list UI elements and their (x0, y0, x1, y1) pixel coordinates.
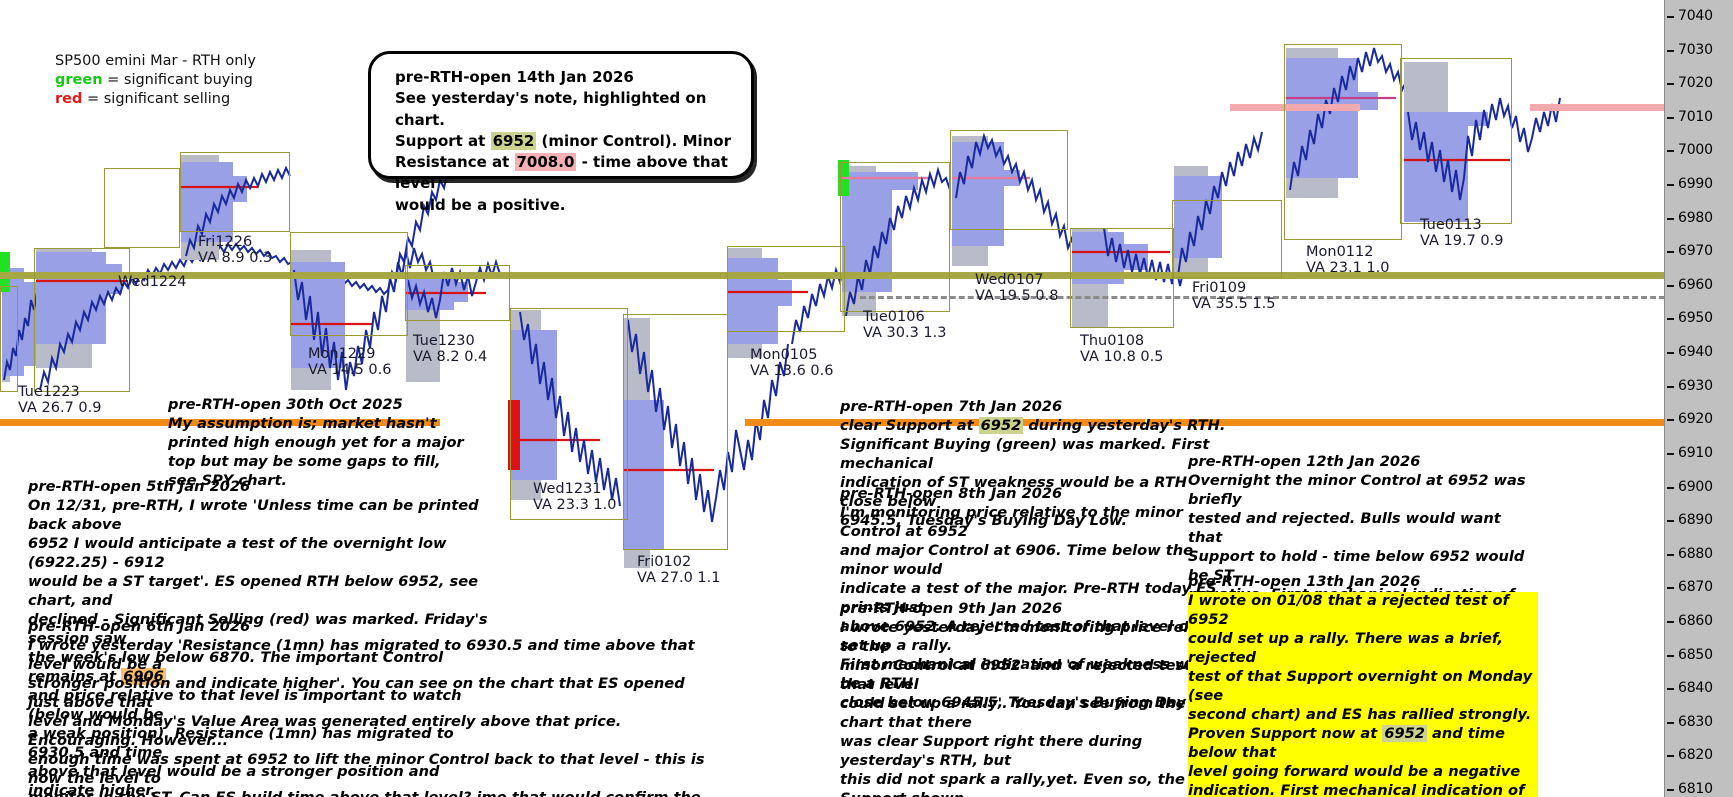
legend-red-word: red (55, 91, 82, 107)
tick-label: 7040 (1678, 8, 1713, 24)
price-axis-tick: 6900 (1665, 488, 1733, 489)
price-axis-tick: 6910 (1665, 454, 1733, 455)
legend-red-row: red = significant selling (55, 90, 256, 109)
note-line-6: level going forward would be a negative (1188, 763, 1538, 782)
tick-label: 6870 (1678, 579, 1713, 595)
session-name: Tue0113 (1420, 217, 1482, 233)
note-line-5-a: Proven Support now at (1188, 725, 1382, 742)
price-axis-tick: 6990 (1665, 185, 1733, 186)
note-header: pre-RTH-open 30th Oct 2025 (168, 396, 468, 415)
price-axis-tick: 6940 (1665, 353, 1733, 354)
session-name: Tue0106 (863, 309, 925, 325)
note-jan09: pre-RTH-open 9th Jan 2026 I wrote yester… (840, 600, 1230, 797)
callout-line-2: See yesterday's note, highlighted on cha… (395, 88, 751, 131)
tick-mark (1667, 621, 1674, 623)
note-line-2: stronger position and indicate higher'. … (28, 675, 718, 713)
tick-label: 7020 (1678, 75, 1713, 91)
price-axis-tick: 6840 (1665, 689, 1733, 690)
note-line-2: minor Control at 6952' and 'a rejected t… (840, 657, 1230, 695)
note-line-1: I'm monitoring price relative to the min… (840, 504, 1230, 542)
price-axis-tick: 6810 (1665, 790, 1733, 791)
price-axis-tick: 7010 (1665, 118, 1733, 119)
session-va: VA 8.2 0.4 (413, 349, 487, 365)
tick-label: 6860 (1678, 613, 1713, 629)
note-line-4: enough time was spent at 6952 to lift th… (28, 751, 718, 789)
session-va: VA 30.3 1.3 (863, 325, 946, 341)
tick-mark (1667, 184, 1674, 186)
session-label-fri1226: Fri1226 VA 8.9 0.3 (198, 234, 272, 266)
chart-screen: Tue1223 VA 26.7 0.9 Wed1224 Fri1226 VA 8… (0, 0, 1733, 797)
price-axis-tick: 6920 (1665, 420, 1733, 421)
session-box-wed1224[interactable] (34, 248, 130, 392)
session-box-mon0105[interactable] (727, 246, 845, 332)
note-line-1: clear Support at 6952 during yesterday's… (840, 417, 1230, 436)
session-va: VA 19.7 0.9 (1420, 233, 1503, 249)
note-line-1-a: clear Support at (840, 417, 979, 434)
session-name: Mon0105 (750, 347, 817, 363)
tick-mark (1667, 285, 1674, 287)
session-va: VA 10.8 0.5 (1080, 349, 1163, 365)
tick-mark (1667, 218, 1674, 220)
note-line-1: I wrote yesterday 'Resistance (1mn) has … (28, 637, 718, 675)
price-axis-tick: 7030 (1665, 51, 1733, 52)
tick-mark (1667, 117, 1674, 119)
tick-mark (1667, 83, 1674, 85)
price-axis[interactable]: 7040703070207010700069906980697069606950… (1664, 0, 1733, 797)
session-name: Tue1223 (18, 384, 80, 400)
session-box-thu0108[interactable] (1070, 228, 1174, 328)
note-line-4: second chart) and ES has rallied strongl… (1188, 706, 1538, 725)
session-va: VA 14.5 0.6 (308, 362, 391, 378)
tick-mark (1667, 50, 1674, 52)
note-line-4: was clear Support right there during yes… (840, 733, 1230, 771)
note-header: pre-RTH-open 9th Jan 2026 (840, 600, 1230, 619)
tick-mark (1667, 251, 1674, 253)
session-box-fri0102[interactable] (623, 314, 728, 550)
session-name: Fri1226 (198, 234, 252, 250)
tick-label: 6910 (1678, 445, 1713, 461)
note-line-1: I wrote on 01/08 that a rejected test of… (1188, 592, 1538, 630)
tick-label: 6970 (1678, 243, 1713, 259)
tick-label: 6960 (1678, 277, 1713, 293)
tick-label: 6940 (1678, 344, 1713, 360)
session-box-fri0109[interactable] (1172, 200, 1282, 278)
note-header: pre-RTH-open 7th Jan 2026 (840, 398, 1230, 417)
session-name: Tue1230 (413, 333, 475, 349)
session-va: VA 35.5 1.5 (1192, 296, 1275, 312)
tick-label: 6980 (1678, 210, 1713, 226)
session-va: VA 26.7 0.9 (18, 400, 101, 416)
callout-text: pre-RTH-open 14th Jan 2026 See yesterday… (371, 54, 751, 216)
session-name: Fri0109 (1192, 280, 1246, 296)
note-header: pre-RTH-open 13th Jan 2026 (1188, 573, 1538, 592)
tick-label: 6810 (1678, 781, 1713, 797)
session-label-tue0106: Tue0106 VA 30.3 1.3 (863, 309, 946, 341)
price-axis-tick: 6880 (1665, 555, 1733, 556)
session-name: Wed1231 (533, 481, 602, 497)
tick-mark (1667, 16, 1674, 18)
price-axis-tick: 6930 (1665, 387, 1733, 388)
callout-line-5: would be a positive. (395, 195, 751, 216)
callout-line-4: Resistance at 7008.0 - time above that l… (395, 152, 751, 195)
session-name: Wed0107 (975, 272, 1044, 288)
session-name: Mon1229 (308, 346, 375, 362)
callout-line-3-a: Support at (395, 132, 491, 150)
note-line-3: could set up a rally'. You can see from … (840, 695, 1230, 733)
note-line-2: tested and rejected. Bulls would want th… (1188, 510, 1538, 548)
tick-mark (1667, 587, 1674, 589)
tick-label: 7000 (1678, 142, 1713, 158)
tick-label: 6840 (1678, 680, 1713, 696)
session-label-mon1229: Mon1229 VA 14.5 0.6 (308, 346, 391, 378)
tick-mark (1667, 520, 1674, 522)
tick-mark (1667, 722, 1674, 724)
tick-label: 6990 (1678, 176, 1713, 192)
tick-label: 6950 (1678, 310, 1713, 326)
proven-support-highlight: 6952 (1382, 725, 1427, 742)
note-line-3: would be a ST target'. ES opened RTH bel… (28, 573, 498, 611)
session-box-fri1226[interactable] (180, 152, 290, 232)
price-axis-tick: 6960 (1665, 286, 1733, 287)
session-name: Fri0102 (637, 554, 691, 570)
note-line-1: On 12/31, pre-RTH, I wrote 'Unless time … (28, 497, 498, 535)
minor-resistance-level-7008 (1530, 104, 1665, 111)
note-line-7: indication. First mechanical indication … (1188, 782, 1538, 797)
price-axis-tick: 7040 (1665, 17, 1733, 18)
price-axis-tick: 7020 (1665, 84, 1733, 85)
session-va: VA 27.0 1.1 (637, 570, 720, 586)
tick-label: 6830 (1678, 714, 1713, 730)
tick-mark (1667, 655, 1674, 657)
price-axis-tick: 7000 (1665, 151, 1733, 152)
tick-mark (1667, 688, 1674, 690)
resistance-level-highlight: 7008.0 (515, 153, 577, 171)
legend-green-word: green (55, 72, 103, 88)
tick-label: 6890 (1678, 512, 1713, 528)
session-va: VA 8.9 0.3 (198, 250, 272, 266)
note-header: pre-RTH-open 5th Jan 2026 (28, 478, 498, 497)
session-box-tue1223[interactable] (0, 286, 18, 392)
session-name: Mon0112 (1306, 244, 1373, 260)
session-label-tue1230: Tue1230 VA 8.2 0.4 (413, 333, 487, 365)
session-box-mon1229[interactable] (290, 232, 408, 336)
tick-mark (1667, 453, 1674, 455)
price-axis-tick: 6820 (1665, 756, 1733, 757)
tick-label: 7030 (1678, 42, 1713, 58)
legend-green-text: = significant buying (103, 72, 253, 88)
price-axis-tick: 6980 (1665, 219, 1733, 220)
callout-line-3: Support at 6952 (minor Control). Minor (395, 131, 751, 152)
session-box-wed0107[interactable] (950, 130, 1068, 230)
callout-line-4-a: Resistance at (395, 153, 515, 171)
note-header: pre-RTH-open 12th Jan 2026 (1188, 453, 1538, 472)
note-line-1: I wrote yesterday 'I'm monitoring price … (840, 619, 1230, 657)
tick-label: 6930 (1678, 378, 1713, 394)
session-box-0[interactable] (104, 168, 180, 248)
session-label-fri0109: Fri0109 VA 35.5 1.5 (1192, 280, 1275, 312)
session-label-tue1223: Tue1223 VA 26.7 0.9 (18, 384, 101, 416)
session-va: VA 13.6 0.6 (750, 363, 833, 379)
session-label-mon0105: Mon0105 VA 13.6 0.6 (750, 347, 833, 379)
session-box-mon0112[interactable] (1284, 44, 1402, 240)
price-axis-tick: 6950 (1665, 319, 1733, 320)
note-line-2: Significant Buying (green) was marked. F… (840, 436, 1230, 474)
callout-line-3-b: (minor Control). Minor (536, 132, 731, 150)
price-axis-tick: 6830 (1665, 723, 1733, 724)
note-header: pre-RTH-open 8th Jan 2026 (840, 485, 1230, 504)
session-label-thu0108: Thu0108 VA 10.8 0.5 (1080, 333, 1163, 365)
tick-mark (1667, 352, 1674, 354)
session-box-tue0113[interactable] (1400, 58, 1512, 224)
session-label-tue0113: Tue0113 VA 19.7 0.9 (1420, 217, 1503, 249)
session-name: Wed1224 (118, 274, 187, 290)
tick-label: 6900 (1678, 479, 1713, 495)
note-line-1-b: during yesterday's RTH. (1023, 417, 1225, 434)
tick-mark (1667, 554, 1674, 556)
note-line-5: Proven Support now at 6952 and time belo… (1188, 725, 1538, 763)
session-va: VA 23.3 1.0 (533, 497, 616, 513)
session-va: VA 23.1 1.0 (1306, 260, 1389, 276)
note-oct30: pre-RTH-open 30th Oct 2025 My assumption… (168, 396, 468, 491)
tick-label: 6820 (1678, 747, 1713, 763)
tick-mark (1667, 386, 1674, 388)
session-label-wed1224: Wed1224 (118, 274, 187, 290)
price-axis-tick: 6860 (1665, 622, 1733, 623)
session-box-tue1230[interactable] (405, 265, 510, 321)
note-line-1: Overnight the minor Control at 6952 was … (1188, 472, 1538, 510)
tick-mark (1667, 318, 1674, 320)
session-label-wed1231: Wed1231 VA 23.3 1.0 (533, 481, 616, 513)
support-level-highlight: 6952 (491, 132, 537, 150)
tick-label: 7010 (1678, 109, 1713, 125)
note-line-2: could set up a rally. There was a brief,… (1188, 630, 1538, 668)
todays-note-callout[interactable]: pre-RTH-open 14th Jan 2026 See yesterday… (368, 51, 754, 179)
price-axis-tick: 6870 (1665, 588, 1733, 589)
tick-mark (1667, 150, 1674, 152)
support-highlight: 6952 (979, 417, 1024, 434)
session-label-mon0112: Mon0112 VA 23.1 1.0 (1306, 244, 1389, 276)
callout-line-1: pre-RTH-open 14th Jan 2026 (395, 67, 751, 88)
note-line-3: level and Monday's Value Area was genera… (28, 713, 718, 751)
session-va: VA 19.5 0.8 (975, 288, 1058, 304)
note-line-3: test of that Support overnight on Monday… (1188, 668, 1538, 706)
legend-green-row: green = significant buying (55, 71, 256, 90)
session-name: Thu0108 (1080, 333, 1144, 349)
session-label-wed0107: Wed0107 VA 19.5 0.8 (975, 272, 1058, 304)
note-line-5: this did not spark a rally,yet. Even so,… (840, 771, 1230, 797)
legend-red-text: = significant selling (82, 91, 230, 107)
chart-legend: SP500 emini Mar - RTH only green = signi… (55, 52, 256, 109)
tick-mark (1667, 419, 1674, 421)
session-label-fri0102: Fri0102 VA 27.0 1.1 (637, 554, 720, 586)
note-jan06: pre-RTH-open 6th Jan 2026 I wrote yester… (28, 618, 718, 797)
session-box-tue0106[interactable] (840, 162, 950, 312)
note-line-5: monitor in the ST. Can ES build time abo… (28, 789, 718, 797)
tick-label: 6880 (1678, 546, 1713, 562)
tick-mark (1667, 755, 1674, 757)
tick-mark (1667, 789, 1674, 791)
note-header: pre-RTH-open 6th Jan 2026 (28, 618, 718, 637)
legend-title: SP500 emini Mar - RTH only (55, 52, 256, 71)
price-axis-tick: 6970 (1665, 252, 1733, 253)
price-chart-plot[interactable]: Tue1223 VA 26.7 0.9 Wed1224 Fri1226 VA 8… (0, 0, 1665, 797)
note-line-2: and major Control at 6906. Time below th… (840, 542, 1230, 580)
tick-mark (1667, 487, 1674, 489)
price-axis-tick: 6890 (1665, 521, 1733, 522)
note-line-2: 6952 I would anticipate a test of the ov… (28, 535, 498, 573)
tick-label: 6850 (1678, 647, 1713, 663)
note-jan13: pre-RTH-open 13th Jan 2026 I wrote on 01… (1188, 573, 1538, 797)
tick-label: 6920 (1678, 411, 1713, 427)
price-axis-tick: 6850 (1665, 656, 1733, 657)
